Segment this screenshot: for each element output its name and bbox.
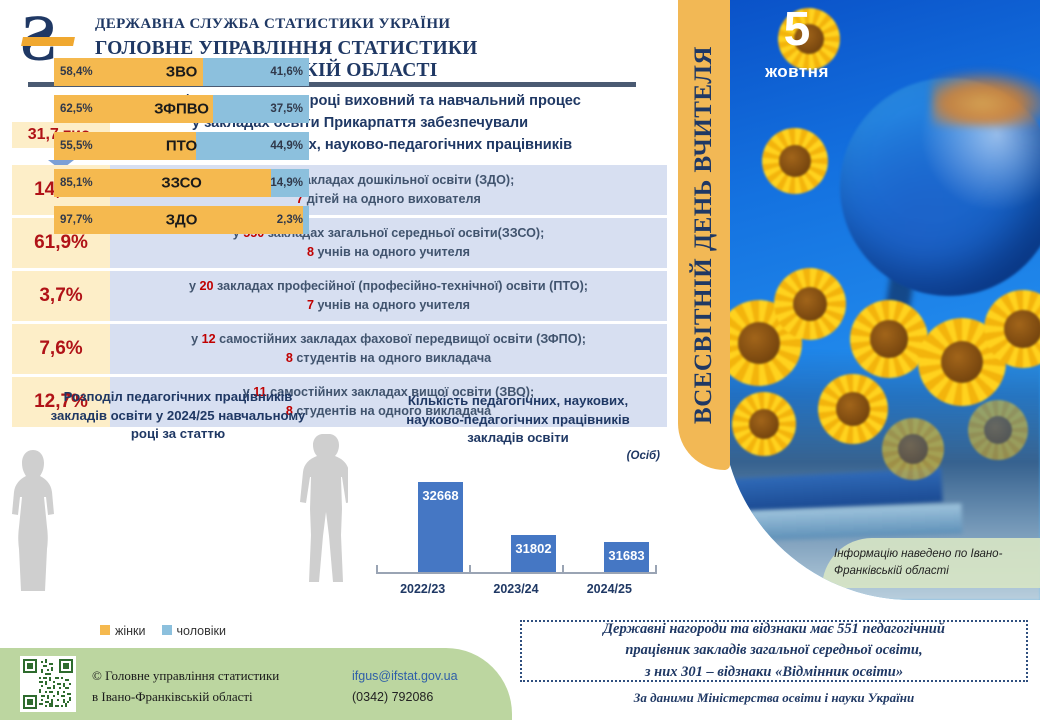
date-month: жовтня (742, 62, 852, 82)
gender-bar-male (303, 206, 309, 234)
gender-chart-title-line: закладів освіти у 2024/25 навчальному (23, 407, 333, 426)
staff-count-category-label: 2023/24 (469, 582, 562, 596)
staff-count-x-axis (376, 572, 656, 574)
awards-note-text: Державні нагороди та відзнаки має 551 пе… (603, 619, 945, 683)
legend-item[interactable]: чоловіки (162, 624, 226, 638)
logo-orange-bar-icon (21, 37, 75, 46)
infographic-root: Інформацію наведено по Івано-Франківські… (0, 0, 1040, 720)
staff-count-bar: 31802 (511, 535, 556, 572)
legend-label: чоловіки (177, 624, 226, 638)
footer-contacts: ifgus@ifstat.gov.ua (0342) 792086 (352, 666, 458, 707)
sunflower-icon (968, 400, 1028, 460)
footer-email[interactable]: ifgus@ifstat.gov.ua (352, 666, 458, 687)
gender-bar-female-value: 62,5% (60, 103, 93, 115)
gender-bar-female-value: 55,5% (60, 140, 93, 152)
row-line-2: 7 учнів на одного учителя (307, 296, 470, 315)
staff-chart-title-line: науково-педагогічних працівників (358, 411, 678, 430)
sunflower-icon (774, 268, 846, 340)
legend-item[interactable]: жінки (100, 624, 146, 638)
table-row: 3,7%у 20 закладах професійної (професійн… (12, 271, 667, 321)
data-source-note: За даними Міністерства освіти і науки Ук… (520, 690, 1028, 706)
woman-silhouette-icon (10, 448, 56, 593)
photo-caption: Інформацію наведено по Івано-Франківські… (822, 538, 1040, 589)
axis-tick (655, 565, 657, 574)
footer-copyright: © Головне управління статистики в Івано-… (92, 666, 279, 708)
man-silhouette-icon (296, 432, 348, 592)
gender-bar-category: ЗФПВО (154, 101, 209, 118)
gender-bars: 58,4%ЗВО41,6%62,5%ЗФПВО37,5%55,5%ПТО44,9… (54, 58, 309, 243)
date-block: 5 жовтня (742, 6, 852, 82)
sunflower-icon (818, 374, 888, 444)
gender-bar-row: 62,5%ЗФПВО37,5% (54, 95, 309, 123)
staff-count-chart-title: Кількість педагогічних, наукових,науково… (358, 392, 678, 448)
globe-icon (840, 78, 1040, 296)
qr-code-icon[interactable] (20, 656, 76, 712)
staff-chart-title-line: закладів освіти (358, 429, 678, 448)
staff-count-chart: Кількість педагогічних, наукових,науково… (358, 392, 678, 612)
org-name-state: ДЕРЖАВНА СЛУЖБА СТАТИСТИКИ УКРАЇНИ (95, 16, 450, 33)
date-day: 5 (742, 6, 852, 54)
staff-count-bar-value: 31683 (608, 548, 644, 563)
world-teachers-day-banner: ВСЕСВІТНІЙ ДЕНЬ ВЧИТЕЛЯ (678, 0, 730, 470)
org-name-regional-line1: ГОЛОВНЕ УПРАВЛІННЯ СТАТИСТИКИ (95, 38, 478, 60)
gender-bar-male-value: 2,3% (277, 214, 303, 226)
gender-bar-row: 55,5%ПТО44,9% (54, 132, 309, 160)
gender-bar-female-value: 58,4% (60, 66, 93, 78)
staff-count-bar-value: 31802 (515, 541, 551, 556)
header-photo: Інформацію наведено по Івано-Франківські… (722, 0, 1040, 600)
gender-bar-category: ЗЗСО (161, 175, 202, 192)
gender-bar-male-value: 41,6% (270, 66, 303, 78)
gender-bar-row: 58,4%ЗВО41,6% (54, 58, 309, 86)
sunflower-icon (882, 418, 944, 480)
staff-count-x-labels: 2022/232023/242024/25 (376, 582, 656, 596)
legend-swatch-icon (162, 625, 172, 635)
gender-bar-male-value: 44,9% (270, 140, 303, 152)
staff-count-plot-area: 326683180231683 (376, 468, 656, 572)
axis-tick (376, 565, 378, 574)
row-description: у 20 закладах професійної (професійно-те… (110, 271, 667, 321)
gender-bar-category: ЗДО (166, 212, 198, 229)
row-line-1: у 12 самостійних закладах фахової передв… (191, 330, 586, 349)
gender-bar-male-value: 14,9% (270, 177, 303, 189)
staff-count-unit-label: (Осіб) (627, 450, 660, 462)
row-percent: 3,7% (12, 271, 110, 321)
staff-chart-title-line: Кількість педагогічних, наукових, (358, 392, 678, 411)
legend-swatch-icon (100, 625, 110, 635)
awards-note-box: Державні нагороди та відзнаки має 551 пе… (520, 620, 1028, 682)
gender-chart-title-line: році за статтю (23, 425, 333, 444)
row-line-1: у 20 закладах професійної (професійно-те… (189, 277, 588, 296)
row-line-2: 8 учнів на одного учителя (307, 243, 470, 262)
staff-count-bar: 31683 (604, 542, 649, 572)
row-line-2: 8 студентів на одного викладача (286, 349, 491, 368)
staff-count-category-label: 2024/25 (563, 582, 656, 596)
gender-bar-category: ПТО (166, 138, 197, 155)
gender-bar-row: 97,7%ЗДО2,3% (54, 206, 309, 234)
axis-tick (469, 565, 471, 574)
row-description: у 12 самостійних закладах фахової передв… (110, 324, 667, 374)
legend-label: жінки (115, 624, 146, 638)
footer-phone: (0342) 792086 (352, 687, 458, 708)
gender-bar-male-value: 37,5% (270, 103, 303, 115)
gender-chart-title: Розподіл педагогічних працівниківзакладі… (23, 388, 333, 444)
table-row: 7,6%у 12 самостійних закладах фахової пе… (12, 324, 667, 374)
gender-bar-female-value: 97,7% (60, 214, 93, 226)
row-line-2: 7 дітей на одного вихователя (296, 190, 481, 209)
sunflower-icon (850, 300, 928, 378)
gender-chart-title-line: Розподіл педагогічних працівників (23, 388, 333, 407)
staff-count-bar: 32668 (418, 482, 463, 572)
banner-label: ВСЕСВІТНІЙ ДЕНЬ ВЧИТЕЛЯ (690, 46, 718, 424)
staff-count-bar-value: 32668 (422, 488, 458, 503)
staff-count-category-label: 2022/23 (376, 582, 469, 596)
row-percent: 7,6% (12, 324, 110, 374)
gender-bar-female-value: 85,1% (60, 177, 93, 189)
gender-chart-legend: жінкичоловіки (100, 624, 226, 638)
sunflower-icon (762, 128, 828, 194)
gender-bar-category: ЗВО (166, 64, 198, 81)
gender-bar-row: 85,1%ЗЗСО14,9% (54, 169, 309, 197)
axis-tick (562, 565, 564, 574)
sunflower-icon (732, 392, 796, 456)
footer: © Головне управління статистики в Івано-… (0, 648, 512, 720)
